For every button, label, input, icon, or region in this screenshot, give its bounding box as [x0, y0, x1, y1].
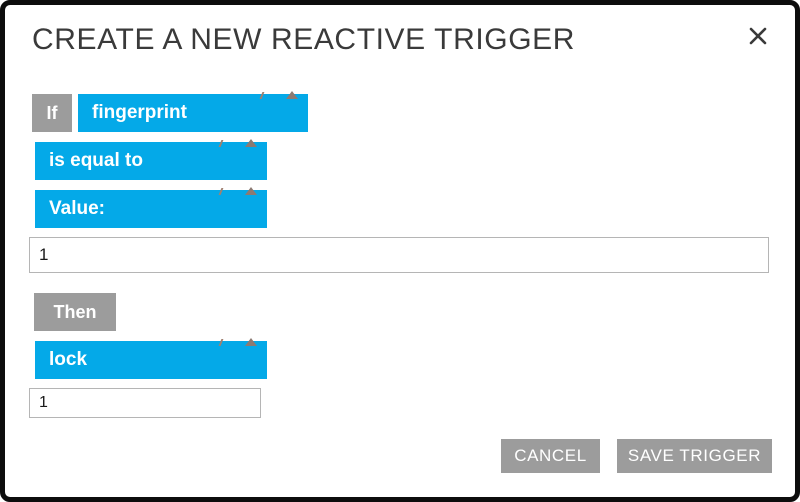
cancel-button[interactable]: CANCEL — [501, 439, 600, 473]
close-icon-glyph — [748, 26, 768, 46]
action-row: lock — [35, 341, 267, 379]
save-trigger-button[interactable]: SAVE TRIGGER — [617, 439, 772, 473]
dropdown-caret-icon — [217, 186, 263, 195]
condition-subject-row: If fingerprint — [32, 94, 308, 132]
dropdown-caret-icon — [258, 90, 304, 99]
condition-subject-label: fingerprint — [92, 102, 187, 123]
reactive-trigger-dialog: CREATE A NEW REACTIVE TRIGGER If fingerp… — [0, 0, 800, 502]
then-keyword-chip: Then — [34, 293, 116, 331]
condition-value-dropdown[interactable]: Value: — [35, 190, 267, 228]
page-title: CREATE A NEW REACTIVE TRIGGER — [32, 23, 575, 57]
close-icon[interactable] — [741, 19, 775, 53]
action-keyword-row: Then — [34, 293, 116, 331]
condition-operator-label: is equal to — [49, 150, 143, 171]
condition-value-label: Value: — [49, 198, 105, 219]
dropdown-caret-icon — [217, 337, 263, 346]
if-keyword-chip: If — [32, 94, 72, 132]
action-dropdown[interactable]: lock — [35, 341, 267, 379]
action-label: lock — [49, 349, 87, 370]
dialog-header: CREATE A NEW REACTIVE TRIGGER — [5, 5, 795, 73]
condition-subject-dropdown[interactable]: fingerprint — [78, 94, 308, 132]
condition-value-row: Value: — [35, 190, 267, 228]
dialog-footer: CANCEL SAVE TRIGGER — [5, 430, 795, 497]
action-value-input[interactable] — [29, 388, 261, 418]
condition-value-input[interactable] — [29, 237, 769, 273]
condition-operator-dropdown[interactable]: is equal to — [35, 142, 267, 180]
dropdown-caret-icon — [217, 138, 263, 147]
condition-operator-row: is equal to — [35, 142, 267, 180]
